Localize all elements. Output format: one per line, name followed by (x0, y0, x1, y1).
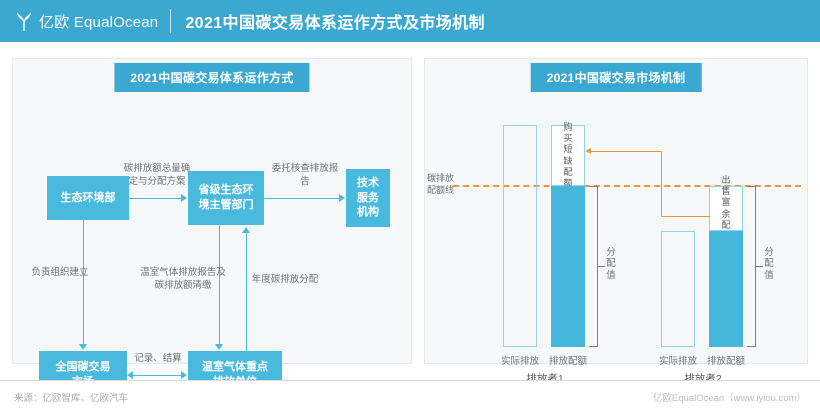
bar-caption-quota-2: 排放配额 (693, 353, 759, 367)
arrowhead-provincial-tech (339, 194, 345, 202)
right-panel: 2021中国碳交易市场机制 碳排放 配额线 购买 短缺 配额 实际排放 排放配额… (424, 58, 808, 364)
bracket-tick-2 (756, 266, 763, 267)
market-mechanism-chart: 碳排放 配额线 购买 短缺 配额 实际排放 排放配额 排放者1 分配值 (425, 59, 809, 365)
bracket-allocation-2 (747, 186, 756, 347)
bracket-label-allocation-2: 分配值 (764, 247, 774, 281)
flow-box-tech-service: 技术 服务 机构 (346, 169, 390, 227)
footer-credit: 亿欧EqualOcean（www.iyiou.com） (653, 390, 806, 404)
transfer-arrow-segment-bottom (661, 216, 710, 217)
logo-text-en: EqualOcean (74, 14, 159, 31)
body-area: 2021中国碳交易体系运作方式 生态环境部 省级生态环 境主管部门 技术 服务 … (0, 42, 820, 380)
arrowhead-emitters-provincial (242, 227, 250, 233)
bar-quota-emitter-2 (709, 231, 743, 347)
header-divider (170, 9, 171, 33)
arrowhead-ministry-provincial (181, 194, 187, 202)
arrow-label-organize-setup: 负责组织建立 (25, 267, 95, 280)
left-panel-title: 2021中国碳交易体系运作方式 (114, 63, 309, 92)
callout-buy-shortfall: 购买 短缺 配额 (551, 125, 585, 186)
brand-logo: 亿欧 EqualOcean (0, 9, 158, 33)
left-panel: 2021中国碳交易体系运作方式 生态环境部 省级生态环 境主管部门 技术 服务 … (12, 58, 412, 364)
logo-text-cn: 亿欧 (39, 14, 69, 31)
connector-ministry-provincial (129, 198, 182, 199)
transfer-arrowhead (585, 148, 591, 154)
arrowhead-ministry-market (79, 344, 87, 350)
arrow-label-ghg-report: 温室气体排放报告及 碳排放额清缴 (131, 267, 235, 293)
logo-text: 亿欧 EqualOcean (39, 11, 158, 32)
arrow-label-verify-report: 委托核查排放报 告 (269, 163, 341, 189)
callout-buy-shortfall-text: 购买 短缺 配额 (564, 122, 573, 190)
arrow-label-annual-allocation: 年度碳排放分配 (249, 274, 321, 287)
infographic-root: 亿欧 EqualOcean 2021中国碳交易体系运作方式及市场机制 2021中… (0, 0, 820, 412)
quota-line-label: 碳排放 配额线 (427, 173, 469, 196)
bar-actual-emitter-2 (661, 231, 695, 347)
callout-sell-surplus: 出售 富余 配额 (709, 186, 743, 231)
arrowhead-market-left (127, 371, 133, 379)
bracket-label-text-2: 分配值 (764, 247, 774, 281)
transfer-arrow-segment-vertical (661, 151, 662, 217)
bracket-allocation-1 (589, 186, 598, 347)
connector-provincial-tech (264, 198, 340, 199)
transfer-arrow-segment-top (591, 151, 662, 152)
page-title: 2021中国碳交易体系运作方式及市场机制 (185, 9, 485, 33)
arrowhead-emitters-right (181, 371, 187, 379)
sprout-logo-icon (14, 9, 34, 33)
connector-ministry-market (83, 220, 84, 346)
bar-quota-emitter-1 (551, 186, 585, 347)
bracket-tick-1 (598, 266, 605, 267)
connector-market-emitters (133, 375, 183, 376)
arrow-label-quota-total: 碳排放额总量确 定与分配方案 (117, 163, 197, 189)
bar-actual-emitter-1 (503, 125, 537, 347)
connector-emitters-provincial (246, 233, 247, 351)
bar-caption-quota-1: 排放配额 (535, 353, 601, 367)
flow-box-provincial: 省级生态环 境主管部门 (188, 171, 264, 225)
bracket-label-allocation-1: 分配值 (606, 247, 616, 281)
footer-source: 来源：亿欧智库、亿欧汽车 (14, 390, 128, 404)
header-bar: 亿欧 EqualOcean 2021中国碳交易体系运作方式及市场机制 (0, 0, 820, 42)
bracket-label-text-1: 分配值 (606, 247, 616, 281)
arrow-label-record-settle: 记录、结算 (126, 353, 190, 366)
footer-bar: 来源：亿欧智库、亿欧汽车 亿欧EqualOcean（www.iyiou.com） (0, 380, 820, 412)
arrowhead-provincial-emitters (215, 344, 223, 350)
